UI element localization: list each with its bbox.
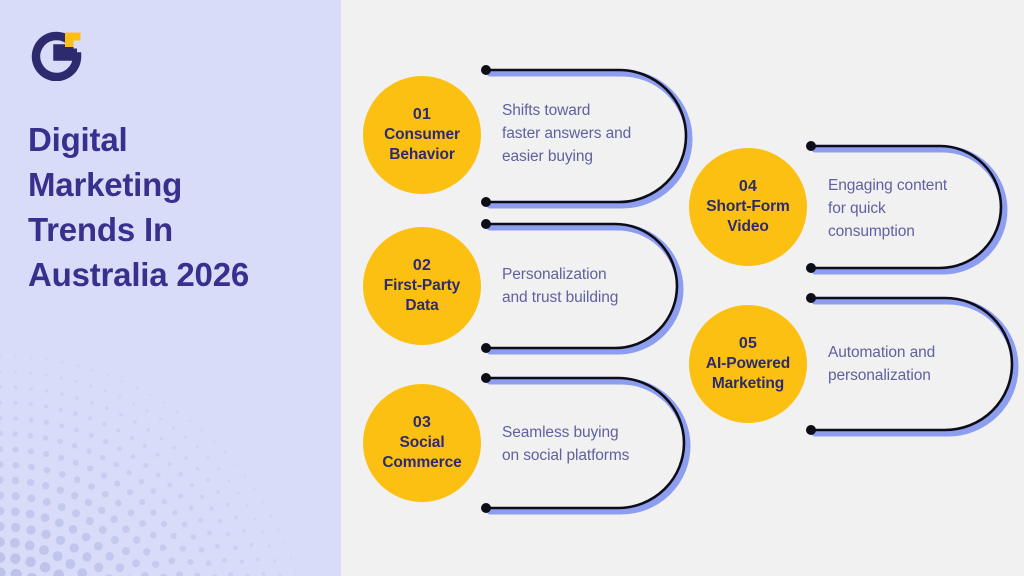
trend-name-03-line-1: Social — [395, 433, 448, 453]
trend-name-05-line-1: AI-Powered — [702, 354, 794, 374]
trend-number-01: 01 — [413, 105, 431, 125]
trend-number-03: 03 — [413, 413, 431, 433]
trend-description-05: Automation and personalization — [828, 341, 998, 387]
trend-number-05: 05 — [739, 334, 757, 354]
page-title-line-1: Digital — [28, 117, 318, 162]
page-title: Digital Marketing Trends In Australia 20… — [28, 117, 318, 297]
trend-name-05-line-2: Marketing — [708, 374, 788, 394]
trend-name-04-line-1: Short-Form — [702, 197, 793, 217]
left-title-panel: Digital Marketing Trends In Australia 20… — [0, 0, 341, 576]
trend-circle-03[interactable]: 03 Social Commerce — [363, 384, 481, 502]
trend-description-02: Personalization and trust building — [502, 263, 677, 309]
trend-description-05-line-1: Automation and — [828, 341, 998, 364]
infographic-canvas: Digital Marketing Trends In Australia 20… — [0, 0, 1024, 576]
trend-name-02-line-2: Data — [401, 296, 442, 316]
trend-description-04: Engaging content for quick consumption — [828, 174, 993, 243]
trend-name-03-line-2: Commerce — [378, 453, 465, 473]
trend-description-03-line-1: Seamless buying — [502, 421, 682, 444]
trend-description-05-line-2: personalization — [828, 364, 998, 387]
halftone-dot-pattern-decoration — [0, 336, 341, 576]
g-letter-logo-icon — [29, 29, 85, 81]
trend-name-01-line-2: Behavior — [385, 145, 459, 165]
trend-description-01-line-3: easier buying — [502, 145, 677, 168]
trend-description-01: Shifts toward faster answers and easier … — [502, 99, 677, 168]
trend-description-04-line-2: for quick — [828, 197, 993, 220]
trend-description-03: Seamless buying on social platforms — [502, 421, 682, 467]
trend-name-02-line-1: First-Party — [380, 276, 464, 296]
page-title-line-2: Marketing — [28, 162, 318, 207]
trend-number-04: 04 — [739, 177, 757, 197]
trend-description-02-line-2: and trust building — [502, 286, 677, 309]
trend-circle-01[interactable]: 01 Consumer Behavior — [363, 76, 481, 194]
trend-description-03-line-2: on social platforms — [502, 444, 682, 467]
trend-number-02: 02 — [413, 256, 431, 276]
trend-circle-05[interactable]: 05 AI-Powered Marketing — [689, 305, 807, 423]
trend-description-02-line-1: Personalization — [502, 263, 677, 286]
trend-name-01-line-1: Consumer — [380, 125, 464, 145]
trend-description-01-line-1: Shifts toward — [502, 99, 677, 122]
page-title-line-3: Trends In — [28, 207, 318, 252]
trend-circle-04[interactable]: 04 Short-Form Video — [689, 148, 807, 266]
trend-description-04-line-1: Engaging content — [828, 174, 993, 197]
trend-name-04-line-2: Video — [723, 217, 772, 237]
trend-description-01-line-2: faster answers and — [502, 122, 677, 145]
trend-circle-02[interactable]: 02 First-Party Data — [363, 227, 481, 345]
trend-description-04-line-3: consumption — [828, 220, 993, 243]
page-title-line-4: Australia 2026 — [28, 252, 318, 297]
